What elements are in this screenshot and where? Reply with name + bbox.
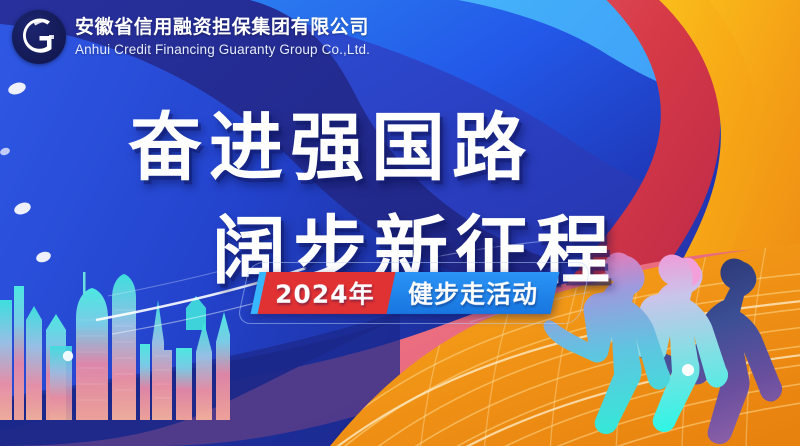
subtitle-activity-chip: 健步走活动 (386, 272, 559, 314)
promotional-banner: 安徽省信用融资担保集团有限公司 Anhui Credit Financing G… (0, 0, 800, 446)
brand-name-en: Anhui Credit Financing Guaranty Group Co… (75, 43, 370, 57)
brand-name-cn: 安徽省信用融资担保集团有限公司 (75, 18, 370, 37)
brand-lockup: 安徽省信用融资担保集团有限公司 Anhui Credit Financing G… (12, 10, 370, 64)
subtitle-activity-label: 健步走活动 (408, 275, 538, 311)
headline-line-1: 奋进强国路 (128, 88, 700, 195)
stylized-g-logo-icon (12, 10, 66, 64)
highlight-dot-icon (682, 364, 694, 376)
subtitle-year-label: 2024年 (275, 275, 375, 311)
subtitle-year-chip: 2024年 (258, 272, 396, 314)
subtitle-banner: 2024年 健步走活动 (251, 272, 560, 314)
moon-dot-icon (63, 351, 73, 361)
